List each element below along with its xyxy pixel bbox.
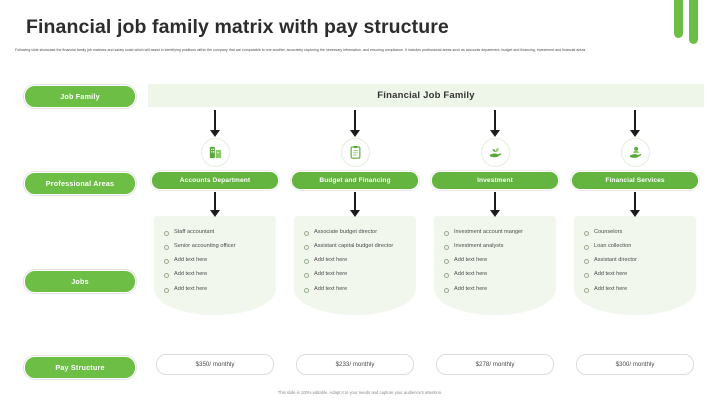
pay-pill-budget-and-financing[interactable]: $233/ monthly: [296, 354, 414, 375]
arrow-area-to-jobs: [145, 192, 285, 216]
rail-label-job-family: Job Family: [24, 85, 136, 108]
pay-cell-financial-services: $300/ monthly: [565, 354, 705, 375]
page-subtitle: Following slide showcase the financial f…: [15, 47, 705, 53]
bullet-icon: [444, 273, 449, 278]
area-pill-financial-services[interactable]: Financial Services: [571, 171, 699, 190]
list-item: Senior accounting officer: [162, 242, 270, 251]
arrow-band-to-icon: [565, 110, 705, 136]
rail-label-professional-areas: Professional Areas: [24, 172, 136, 195]
list-item: Add text here: [442, 270, 550, 279]
hand-person-service-icon: [621, 138, 650, 167]
bullet-icon: [304, 288, 309, 293]
footer-note: This slide is 100% editable. Adapt it to…: [0, 390, 720, 395]
bullet-icon: [584, 288, 589, 293]
pay-pill-financial-services[interactable]: $300/ monthly: [576, 354, 694, 375]
arrow-band-to-icon: [145, 110, 285, 136]
bullet-icon: [304, 273, 309, 278]
list-item: Staff accountant: [162, 228, 270, 237]
list-item: Assistant capital budget director: [302, 242, 410, 251]
arrow-band-to-icon: [425, 110, 565, 136]
column-budget-and-financing: Budget and Financing Associate budget di…: [285, 110, 425, 315]
arrow-area-to-jobs: [285, 192, 425, 216]
bullet-icon: [164, 259, 169, 264]
icon-container: [425, 138, 565, 167]
list-item: Add text here: [162, 256, 270, 265]
list-item: Add text here: [442, 256, 550, 265]
area-pill-investment[interactable]: Investment: [431, 171, 559, 190]
jobs-card-budget-and-financing: Associate budget director Assistant capi…: [294, 216, 416, 315]
rail-label-jobs: Jobs: [24, 270, 136, 293]
rail-label-pay-structure: Pay Structure: [24, 356, 136, 379]
bullet-icon: [164, 245, 169, 250]
hand-growth-plant-icon: [481, 138, 510, 167]
bullet-icon: [164, 288, 169, 293]
pay-cell-investment: $278/ monthly: [425, 354, 565, 375]
brand-bar-left: [674, 0, 683, 38]
list-item: Add text here: [302, 256, 410, 265]
bullet-icon: [164, 231, 169, 236]
column-financial-services: Financial Services Counselors Loan colle…: [565, 110, 705, 315]
bullet-icon: [444, 288, 449, 293]
pay-pill-accounts-department[interactable]: $350/ monthly: [156, 354, 274, 375]
bullet-icon: [584, 273, 589, 278]
pay-cell-budget-and-financing: $233/ monthly: [285, 354, 425, 375]
bullet-icon: [584, 259, 589, 264]
list-item: Add text here: [582, 285, 690, 294]
list-item: Add text here: [302, 285, 410, 294]
icon-container: [565, 138, 705, 167]
bullet-icon: [584, 245, 589, 250]
bullet-icon: [304, 231, 309, 236]
icon-container: [145, 138, 285, 167]
area-pill-accounts-department[interactable]: Accounts Department: [151, 171, 279, 190]
area-pill-budget-and-financing[interactable]: Budget and Financing: [291, 171, 419, 190]
column-investment: Investment Investment account manger Inv…: [425, 110, 565, 315]
bullet-icon: [304, 259, 309, 264]
brand-logo: [672, 0, 706, 44]
list-item: Add text here: [162, 285, 270, 294]
financial-job-family-label: Financial Job Family: [377, 90, 474, 101]
bullet-icon: [584, 231, 589, 236]
list-item: Assistant director: [582, 256, 690, 265]
financial-job-family-band: Financial Job Family: [148, 84, 704, 107]
bullet-icon: [444, 259, 449, 264]
list-item: Investment account manger: [442, 228, 550, 237]
list-item: Counselors: [582, 228, 690, 237]
jobs-card-investment: Investment account manger Investment ana…: [434, 216, 556, 315]
bullet-icon: [444, 231, 449, 236]
list-item: Add text here: [162, 270, 270, 279]
list-item: Loan collection: [582, 242, 690, 251]
bar-chart-building-icon: [201, 138, 230, 167]
list-item: Add text here: [302, 270, 410, 279]
list-item: Add text here: [442, 285, 550, 294]
icon-container: [285, 138, 425, 167]
list-item: Investment analysts: [442, 242, 550, 251]
list-item: Add text here: [582, 270, 690, 279]
bullet-icon: [444, 245, 449, 250]
brand-bar-right: [689, 0, 698, 44]
page-title: Financial job family matrix with pay str…: [26, 16, 449, 39]
arrow-area-to-jobs: [565, 192, 705, 216]
column-accounts-department: Accounts Department Staff accountant Sen…: [145, 110, 285, 315]
bullet-icon: [304, 245, 309, 250]
pay-cell-accounts-department: $350/ monthly: [145, 354, 285, 375]
bullet-icon: [164, 273, 169, 278]
list-item: Associate budget director: [302, 228, 410, 237]
clipboard-budget-icon: [341, 138, 370, 167]
pay-pill-investment[interactable]: $278/ monthly: [436, 354, 554, 375]
arrow-area-to-jobs: [425, 192, 565, 216]
arrow-band-to-icon: [285, 110, 425, 136]
jobs-card-financial-services: Counselors Loan collection Assistant dir…: [574, 216, 696, 315]
jobs-card-accounts-department: Staff accountant Senior accounting offic…: [154, 216, 276, 315]
